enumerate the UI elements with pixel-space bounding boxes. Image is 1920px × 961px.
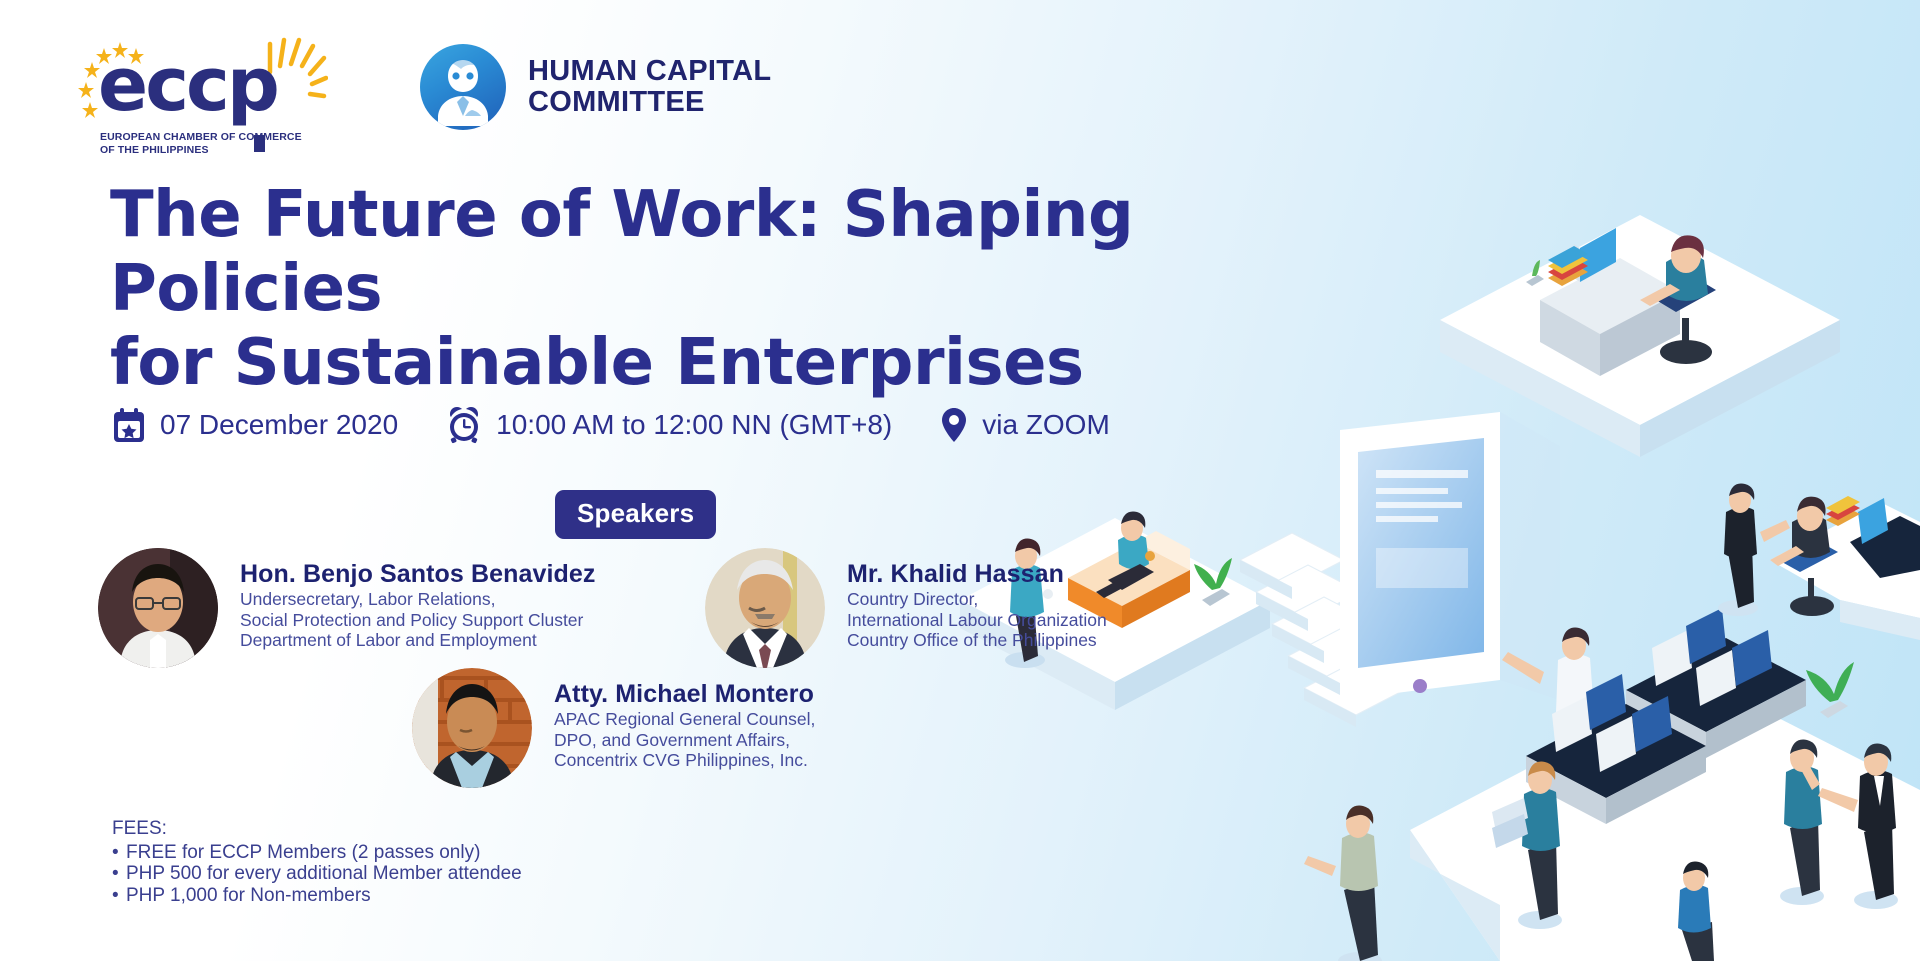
event-time: 10:00 AM to 12:00 NN (GMT+8) [446,406,892,444]
fees-section: FEES: FREE for ECCP Members (2 passes on… [112,818,522,906]
speaker-role-line-3: Department of Labor and Employment [240,630,596,651]
fees-item: FREE for ECCP Members (2 passes only) [112,842,522,864]
speakers-badge: Speakers [555,490,716,539]
fees-heading: FEES: [112,818,522,840]
illustration-person-standing-right [1718,484,1790,617]
event-date: 07 December 2020 [112,407,398,443]
fees-item: PHP 1,000 for Non-members [112,885,522,907]
illustration-person-walking [1304,806,1382,961]
speaker-name: Atty. Michael Montero [554,680,815,709]
event-title-line-1: The Future of Work: Shaping Policies [110,178,1340,326]
event-date-text: 07 December 2020 [160,409,398,441]
speaker-avatar [98,548,218,668]
speaker-card: Atty. Michael Montero APAC Regional Gene… [412,668,815,788]
event-title-line-2: for Sustainable Enterprises [110,326,1340,400]
speaker-info: Hon. Benjo Santos Benavidez Undersecreta… [240,548,596,651]
eccp-tagline: EUROPEAN CHAMBER OF COMMERCE OF THE PHIL… [100,131,350,156]
event-venue: via ZOOM [940,407,1110,443]
speaker-role-line-2: International Labour Organization [847,610,1107,631]
eccp-wordmark: eccp [98,48,277,122]
speaker-role-line-1: Country Director, [847,589,1107,610]
location-pin-icon [940,407,968,443]
speaker-role-line-3: Country Office of the Philippines [847,630,1107,651]
illustration-palm-plant [1806,662,1854,718]
committee-name: HUMAN CAPITAL COMMITTEE [528,56,771,118]
speaker-role-line-3: Concentrix CVG Philippines, Inc. [554,750,815,771]
speaker-avatar [705,548,825,668]
eccp-logo[interactable]: eccp EUROPEAN CHAMBER OF COMMERCE OF THE… [78,38,328,148]
calendar-icon [112,407,146,443]
speaker-info: Mr. Khalid Hassan Country Director, Inte… [847,548,1107,651]
alarm-clock-icon [446,406,482,444]
human-capital-committee-logo[interactable]: HUMAN CAPITAL COMMITTEE [420,44,771,130]
speaker-card: Hon. Benjo Santos Benavidez Undersecreta… [98,548,596,668]
event-time-text: 10:00 AM to 12:00 NN (GMT+8) [496,409,892,441]
fees-item: PHP 500 for every additional Member atte… [112,863,522,885]
speaker-card: Mr. Khalid Hassan Country Director, Inte… [705,548,1107,668]
speaker-info: Atty. Michael Montero APAC Regional Gene… [554,668,815,771]
event-venue-text: via ZOOM [982,409,1110,441]
speaker-role-line-2: DPO, and Government Affairs, [554,730,815,751]
speaker-name: Mr. Khalid Hassan [847,560,1107,589]
speaker-role-line-1: APAC Regional General Counsel, [554,709,815,730]
speaker-role-line-2: Social Protection and Policy Support Clu… [240,610,596,631]
speaker-role-line-1: Undersecretary, Labor Relations, [240,589,596,610]
speaker-avatar [412,668,532,788]
brand-header: eccp EUROPEAN CHAMBER OF COMMERCE OF THE… [78,38,771,148]
person-in-suit-icon [420,44,506,130]
speaker-name: Hon. Benjo Santos Benavidez [240,560,596,589]
event-title: The Future of Work: Shaping Policies for… [110,178,1340,400]
committee-line-1: HUMAN CAPITAL [528,56,771,87]
committee-line-2: COMMITTEE [528,87,771,118]
isometric-office-illustration [940,0,1920,961]
event-details: 07 December 2020 10:00 AM to 12:00 NN (G… [112,406,1110,444]
